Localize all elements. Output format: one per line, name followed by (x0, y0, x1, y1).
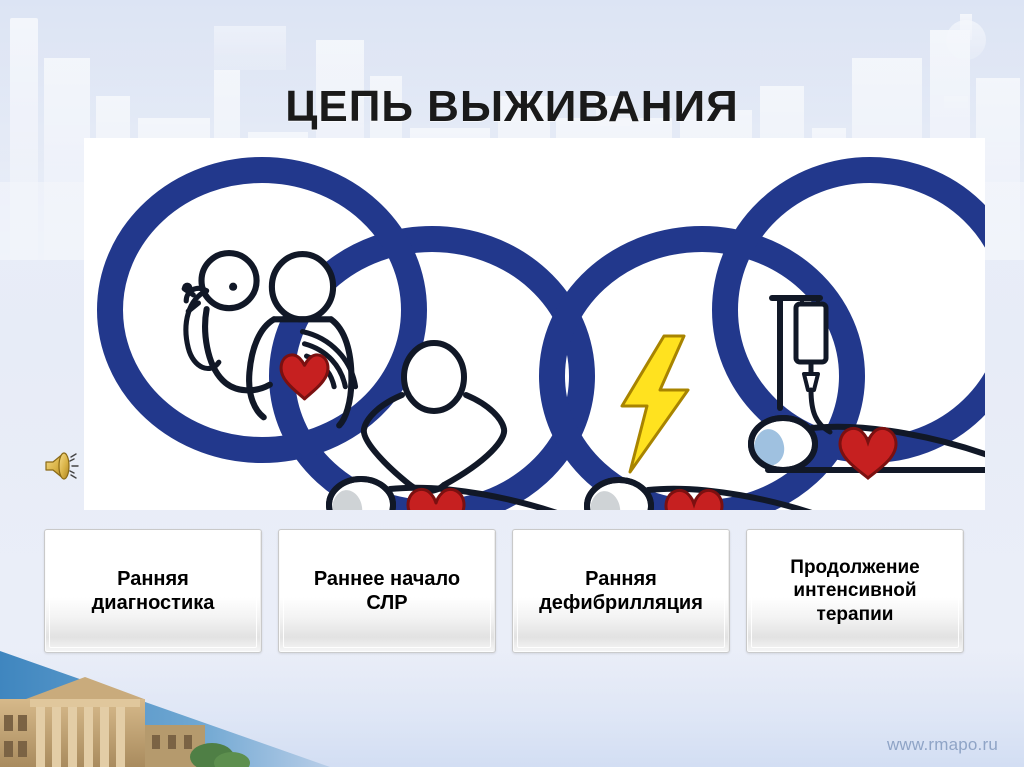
caption-line-1a: Ранняя (117, 568, 189, 590)
caption-box-early-defibrillation[interactable]: Ранняя дефибрилляция (512, 529, 730, 653)
building-photo-corner (0, 637, 470, 767)
caption-line-4b: интенсивной (793, 580, 916, 601)
caption-text-1: Ранняя диагностика (92, 567, 215, 616)
slide-canvas: ЦЕПЬ ВЫЖИВАНИЯ (0, 0, 1024, 767)
caption-line-1b: диагностика (92, 592, 215, 614)
caption-line-4a: Продолжение (790, 557, 919, 578)
bottom-gradient (0, 647, 1024, 767)
caption-line-3a: Ранняя (585, 568, 657, 590)
caption-text-3: Ранняя дефибрилляция (539, 567, 703, 616)
chain-svg (84, 138, 985, 510)
chain-of-survival-graphic (84, 138, 985, 510)
caption-row: Ранняя диагностика Раннее начало СЛР Ран… (44, 529, 984, 653)
caption-text-4: Продолжение интенсивной терапии (790, 556, 919, 626)
caption-box-continued-intensive-care[interactable]: Продолжение интенсивной терапии (746, 529, 964, 653)
caption-box-early-diagnosis[interactable]: Ранняя диагностика (44, 529, 262, 653)
site-watermark: www.rmapo.ru (887, 735, 998, 755)
speaker-audio-icon[interactable] (42, 446, 84, 486)
caption-box-early-cpr[interactable]: Раннее начало СЛР (278, 529, 496, 653)
caption-line-2a: Раннее начало (314, 568, 460, 590)
caption-text-2: Раннее начало СЛР (314, 567, 460, 616)
page-title: ЦЕПЬ ВЫЖИВАНИЯ (0, 82, 1024, 132)
caption-line-2b: СЛР (366, 592, 407, 614)
caption-line-4c: терапии (817, 604, 894, 625)
caption-line-3b: дефибрилляция (539, 592, 703, 614)
